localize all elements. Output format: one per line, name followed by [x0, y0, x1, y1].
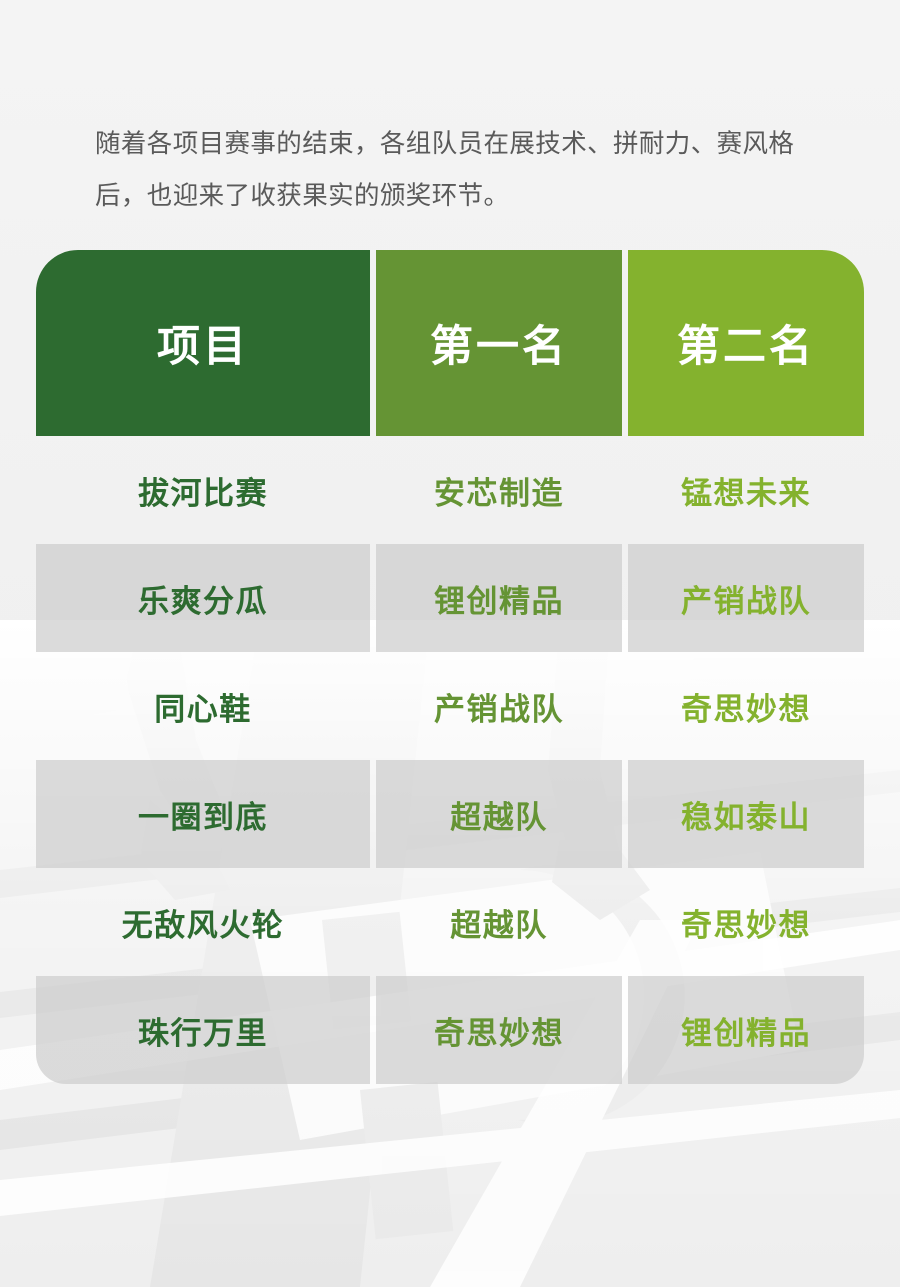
cell-second-place: 稳如泰山	[628, 760, 864, 868]
cell-first-place: 奇思妙想	[376, 976, 622, 1084]
intro-paragraph: 随着各项目赛事的结束，各组队员在展技术、拼耐力、赛风格后，也迎来了收获果实的颁奖…	[95, 118, 811, 222]
cell-second-place: 锂创精品	[628, 976, 864, 1084]
poster-page: 随着各项目赛事的结束，各组队员在展技术、拼耐力、赛风格后，也迎来了收获果实的颁奖…	[0, 0, 900, 1287]
cell-event: 无敌风火轮	[36, 868, 370, 976]
cell-second-place: 奇思妙想	[628, 868, 864, 976]
column-header-first-place: 第一名	[376, 250, 622, 436]
table-row: 乐爽分瓜 锂创精品 产销战队	[36, 544, 864, 652]
cell-event: 一圈到底	[36, 760, 370, 868]
cell-first-place: 超越队	[376, 868, 622, 976]
cell-event: 拔河比赛	[36, 436, 370, 544]
cell-first-place: 安芯制造	[376, 436, 622, 544]
cell-second-place: 奇思妙想	[628, 652, 864, 760]
table-row: 一圈到底 超越队 稳如泰山	[36, 760, 864, 868]
cell-event: 乐爽分瓜	[36, 544, 370, 652]
cell-second-place: 产销战队	[628, 544, 864, 652]
cell-second-place: 锰想未来	[628, 436, 864, 544]
cell-first-place: 产销战队	[376, 652, 622, 760]
column-header-event: 项目	[36, 250, 370, 436]
table-row: 无敌风火轮 超越队 奇思妙想	[36, 868, 864, 976]
table-row: 拔河比赛 安芯制造 锰想未来	[36, 436, 864, 544]
column-header-second-place: 第二名	[628, 250, 864, 436]
cell-first-place: 超越队	[376, 760, 622, 868]
cell-event: 珠行万里	[36, 976, 370, 1084]
awards-table: 项目 第一名 第二名 拔河比赛 安芯制造 锰想未来 乐爽分瓜 锂创精品 产销战队…	[36, 250, 864, 1084]
table-header-row: 项目 第一名 第二名	[36, 250, 864, 436]
cell-first-place: 锂创精品	[376, 544, 622, 652]
table-row: 同心鞋 产销战队 奇思妙想	[36, 652, 864, 760]
cell-event: 同心鞋	[36, 652, 370, 760]
table-row: 珠行万里 奇思妙想 锂创精品	[36, 976, 864, 1084]
